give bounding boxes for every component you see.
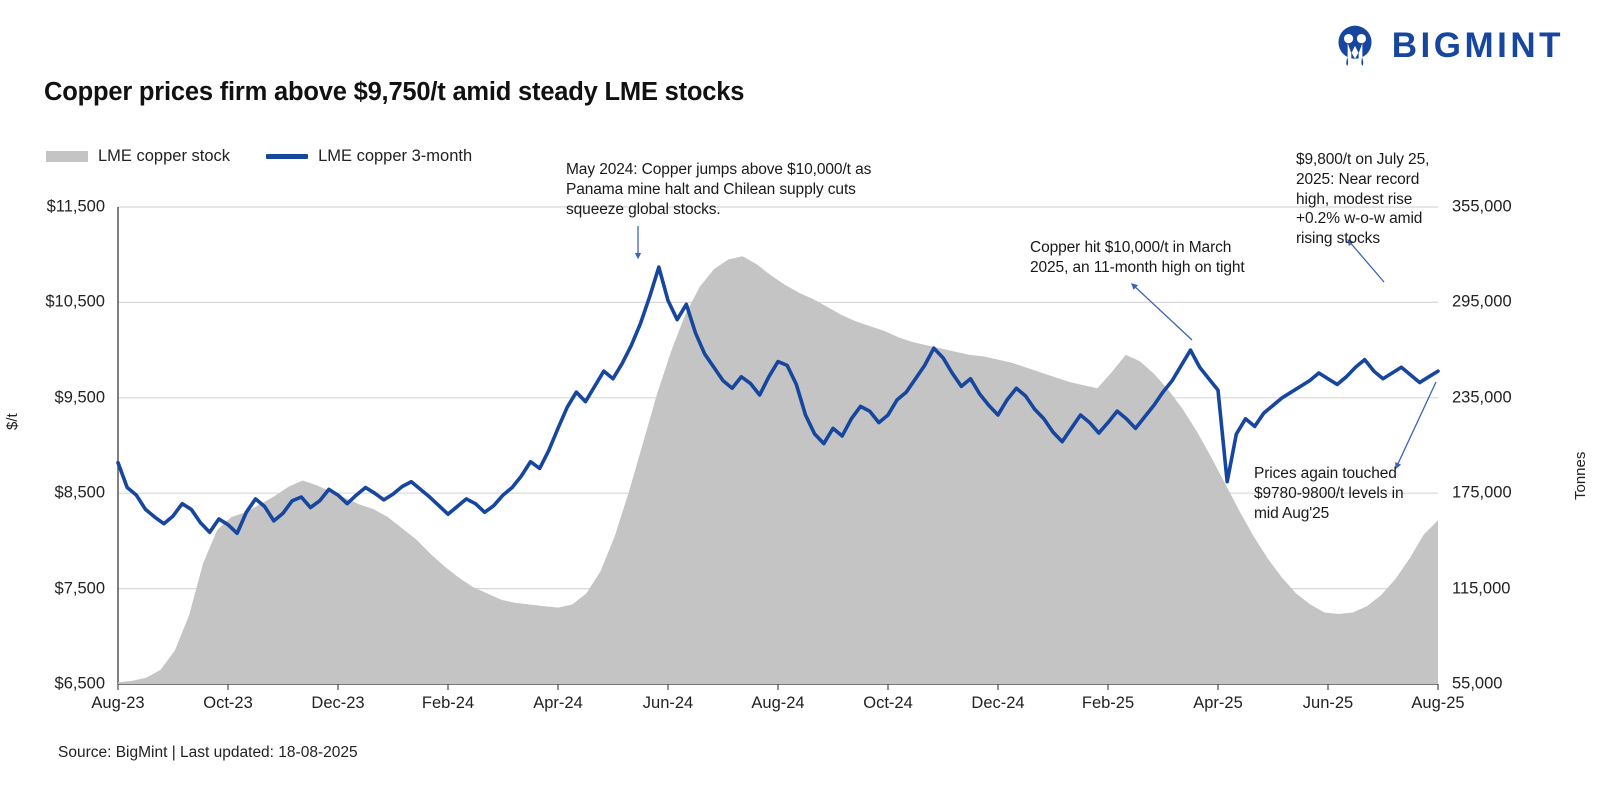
anno-march-2025: Copper hit $10,000/t in March 2025, an 1…: [1030, 238, 1290, 278]
x-tick-label: Jun-24: [643, 694, 693, 713]
x-tick-label: Aug-24: [751, 694, 804, 713]
x-tick-label: Aug-25: [1411, 694, 1464, 713]
x-tick-label: Oct-23: [203, 694, 253, 713]
anno-may-2024: May 2024: Copper jumps above $10,000/t a…: [566, 160, 966, 219]
x-tick-label: Dec-24: [971, 694, 1024, 713]
x-tick-label: Feb-24: [422, 694, 474, 713]
y2-tick-label: 235,000: [1452, 388, 1512, 407]
series-area-lme-copper-stock: [118, 256, 1438, 684]
x-tick-label: Feb-25: [1082, 694, 1134, 713]
x-tick-label: Apr-25: [1193, 694, 1243, 713]
y-tick-label: $7,500: [55, 579, 105, 598]
anno-aug-2025: Prices again touched $9780-9800/t levels…: [1254, 464, 1454, 523]
chart-page: BIGMINT Copper prices firm above $9,750/…: [0, 0, 1600, 800]
y2-tick-label: 355,000: [1452, 198, 1512, 217]
annotation-arrow: [1396, 382, 1436, 468]
x-tick-label: Oct-24: [863, 694, 913, 713]
y2-tick-label: 55,000: [1452, 675, 1502, 694]
y2-tick-label: 115,000: [1452, 579, 1510, 598]
x-tick-label: Jun-25: [1303, 694, 1353, 713]
source-footer: Source: BigMint | Last updated: 18-08-20…: [58, 744, 358, 762]
y-tick-label: $11,500: [47, 198, 105, 217]
y-tick-label: $10,500: [45, 293, 105, 312]
y2-tick-label: 295,000: [1452, 293, 1512, 312]
y-tick-label: $6,500: [55, 675, 105, 694]
x-tick-label: Aug-23: [91, 694, 144, 713]
annotation-arrow: [1132, 284, 1192, 340]
y-tick-label: $8,500: [55, 484, 105, 503]
x-tick-label: Apr-24: [533, 694, 583, 713]
x-tick-label: Dec-23: [311, 694, 364, 713]
chart-plot: [0, 0, 1600, 800]
anno-july-2025: $9,800/t on July 25, 2025: Near record h…: [1296, 150, 1456, 249]
y2-tick-label: 175,000: [1452, 484, 1512, 503]
y-tick-label: $9,500: [55, 388, 105, 407]
